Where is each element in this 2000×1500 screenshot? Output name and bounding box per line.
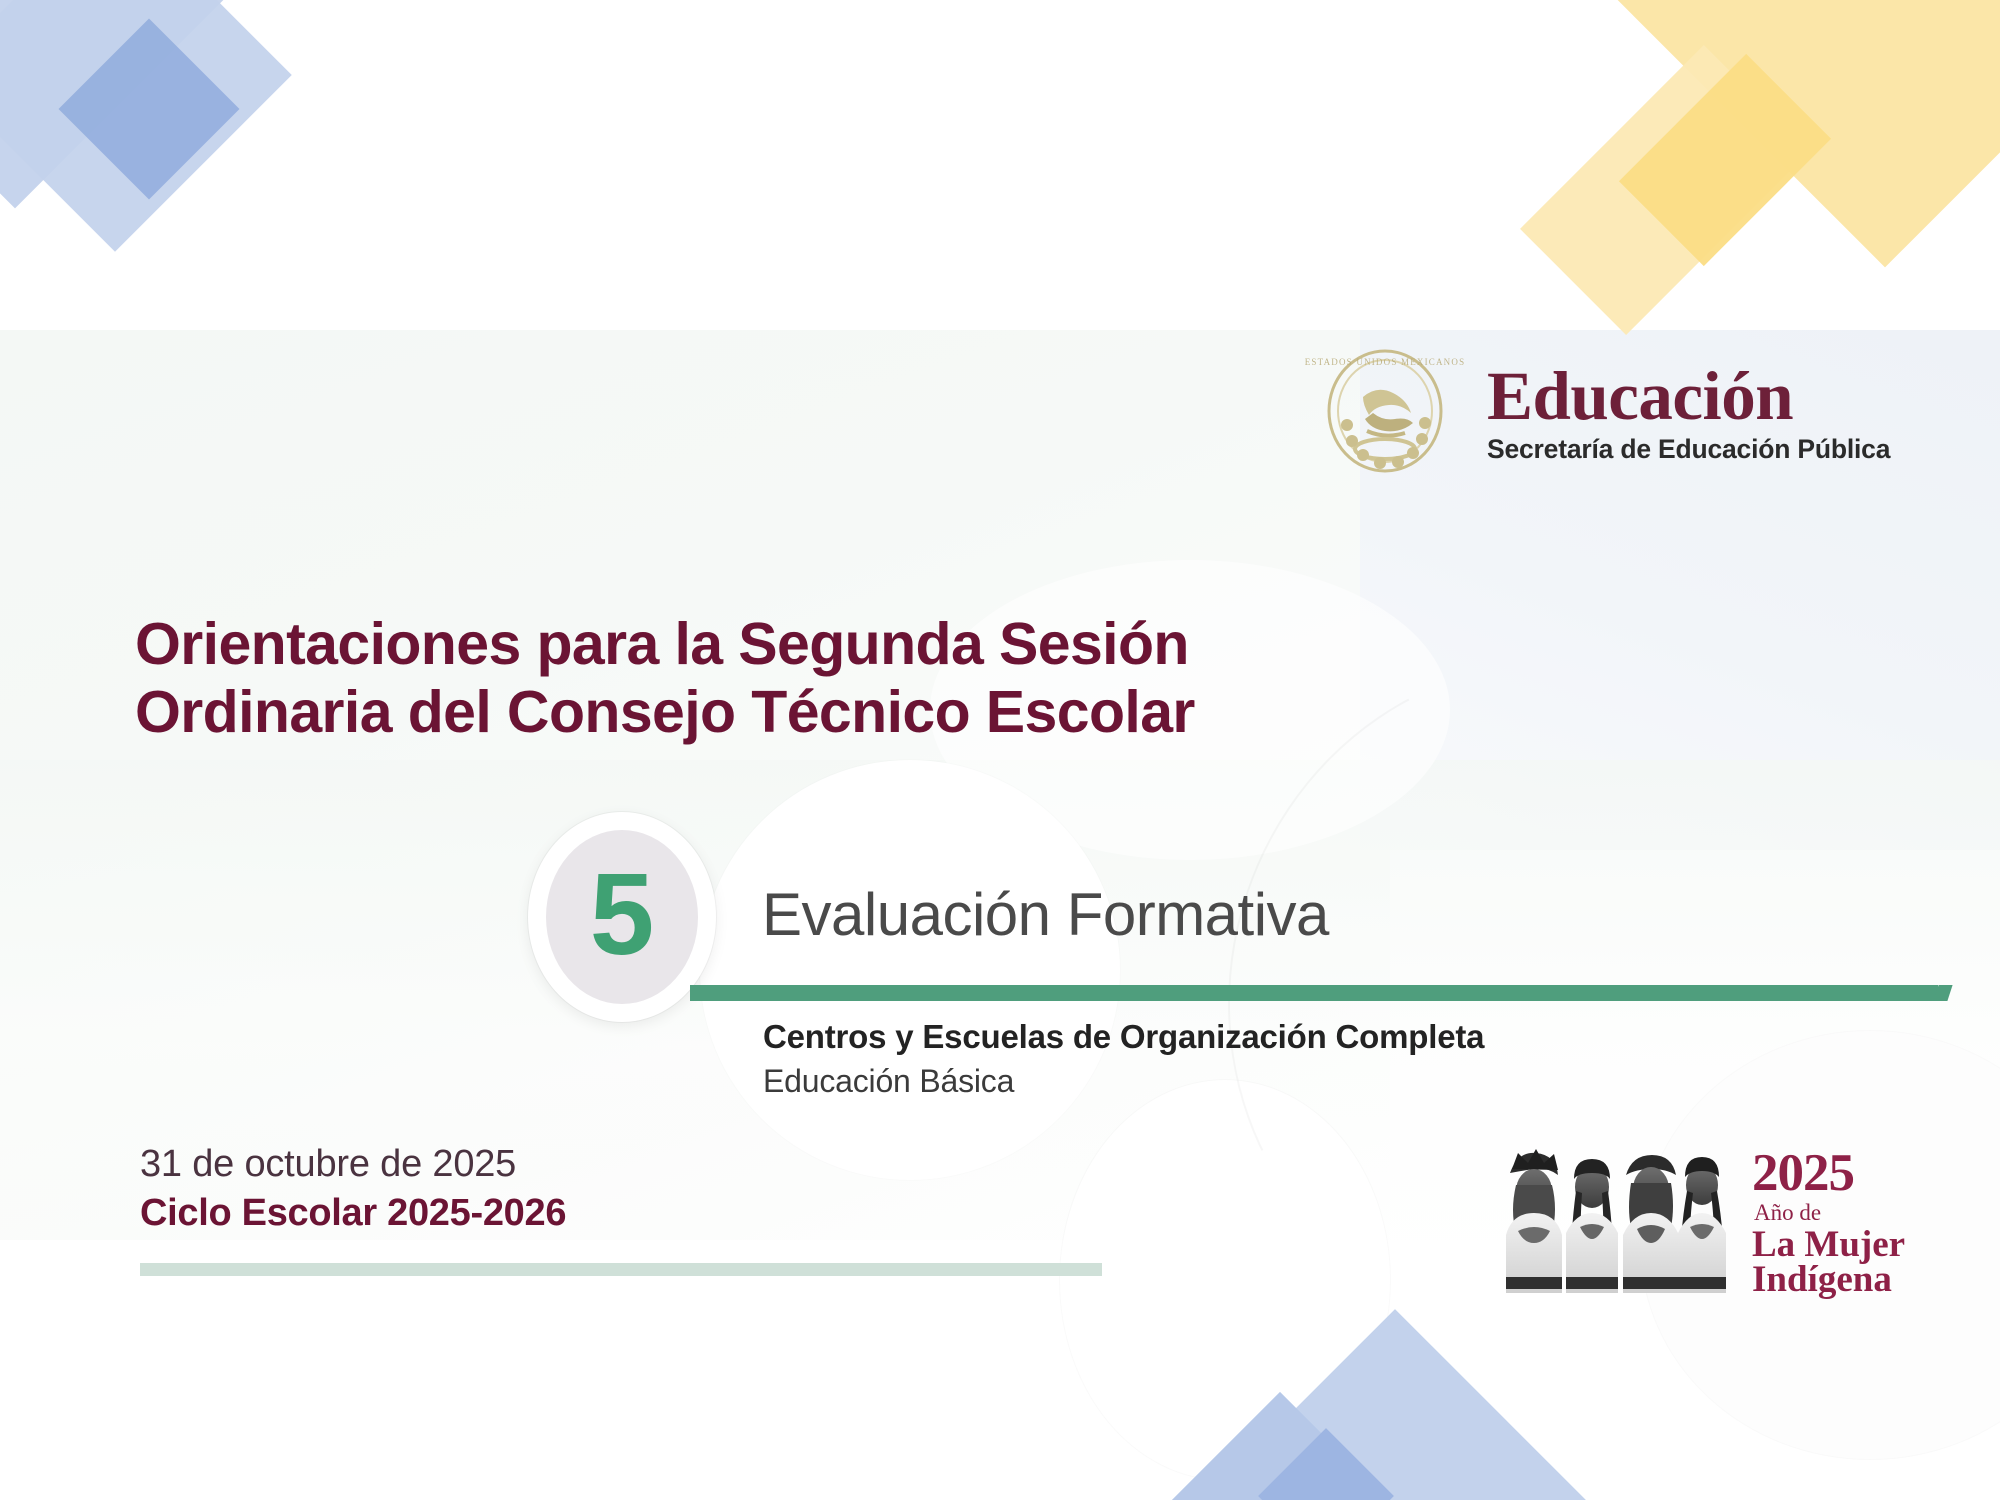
session-number-badge: 5 [528, 812, 716, 1022]
page-title: Orientaciones para la Segunda Sesión Ord… [135, 610, 1555, 747]
session-level: Educación Básica [763, 1063, 1014, 1100]
session-number-badge-inner: 5 [546, 830, 698, 1004]
indigenous-women-photo-icon [1490, 1135, 1740, 1310]
svg-text:ESTADOS UNIDOS MEXICANOS: ESTADOS UNIDOS MEXICANOS [1305, 357, 1465, 367]
year-logo-line1: Año de [1754, 1201, 1905, 1224]
session-number: 5 [590, 856, 655, 972]
year-2025-logo: 2025 Año de La Mujer Indígena [1490, 1135, 1905, 1310]
year-logo-line3: Indígena [1752, 1261, 1905, 1299]
mexican-coat-of-arms-icon: ESTADOS UNIDOS MEXICANOS [1305, 345, 1465, 480]
session-date: 31 de octubre de 2025 [140, 1143, 516, 1186]
accent-rule [690, 985, 1938, 1001]
watermark-circle-center [700, 760, 1120, 1180]
slide-canvas: ESTADOS UNIDOS MEXICANOS Educación Secre… [0, 0, 2000, 1500]
sep-institution-name: Secretaría de Educación Pública [1487, 436, 1890, 463]
page-title-line1: Orientaciones para la Segunda Sesión [135, 611, 1189, 677]
page-title-line2: Ordinaria del Consejo Técnico Escolar [135, 678, 1555, 746]
footer-rule [140, 1263, 1102, 1276]
sep-brand-name: Educación [1487, 362, 1890, 431]
school-cycle: Ciclo Escolar 2025-2026 [140, 1192, 566, 1235]
year-logo-year: 2025 [1752, 1146, 1905, 1200]
session-topic: Evaluación Formativa [762, 880, 1329, 949]
sep-logo: ESTADOS UNIDOS MEXICANOS Educación Secre… [1305, 345, 1890, 480]
year-logo-line2: La Mujer [1752, 1226, 1905, 1264]
session-scope: Centros y Escuelas de Organización Compl… [763, 1018, 1484, 1056]
